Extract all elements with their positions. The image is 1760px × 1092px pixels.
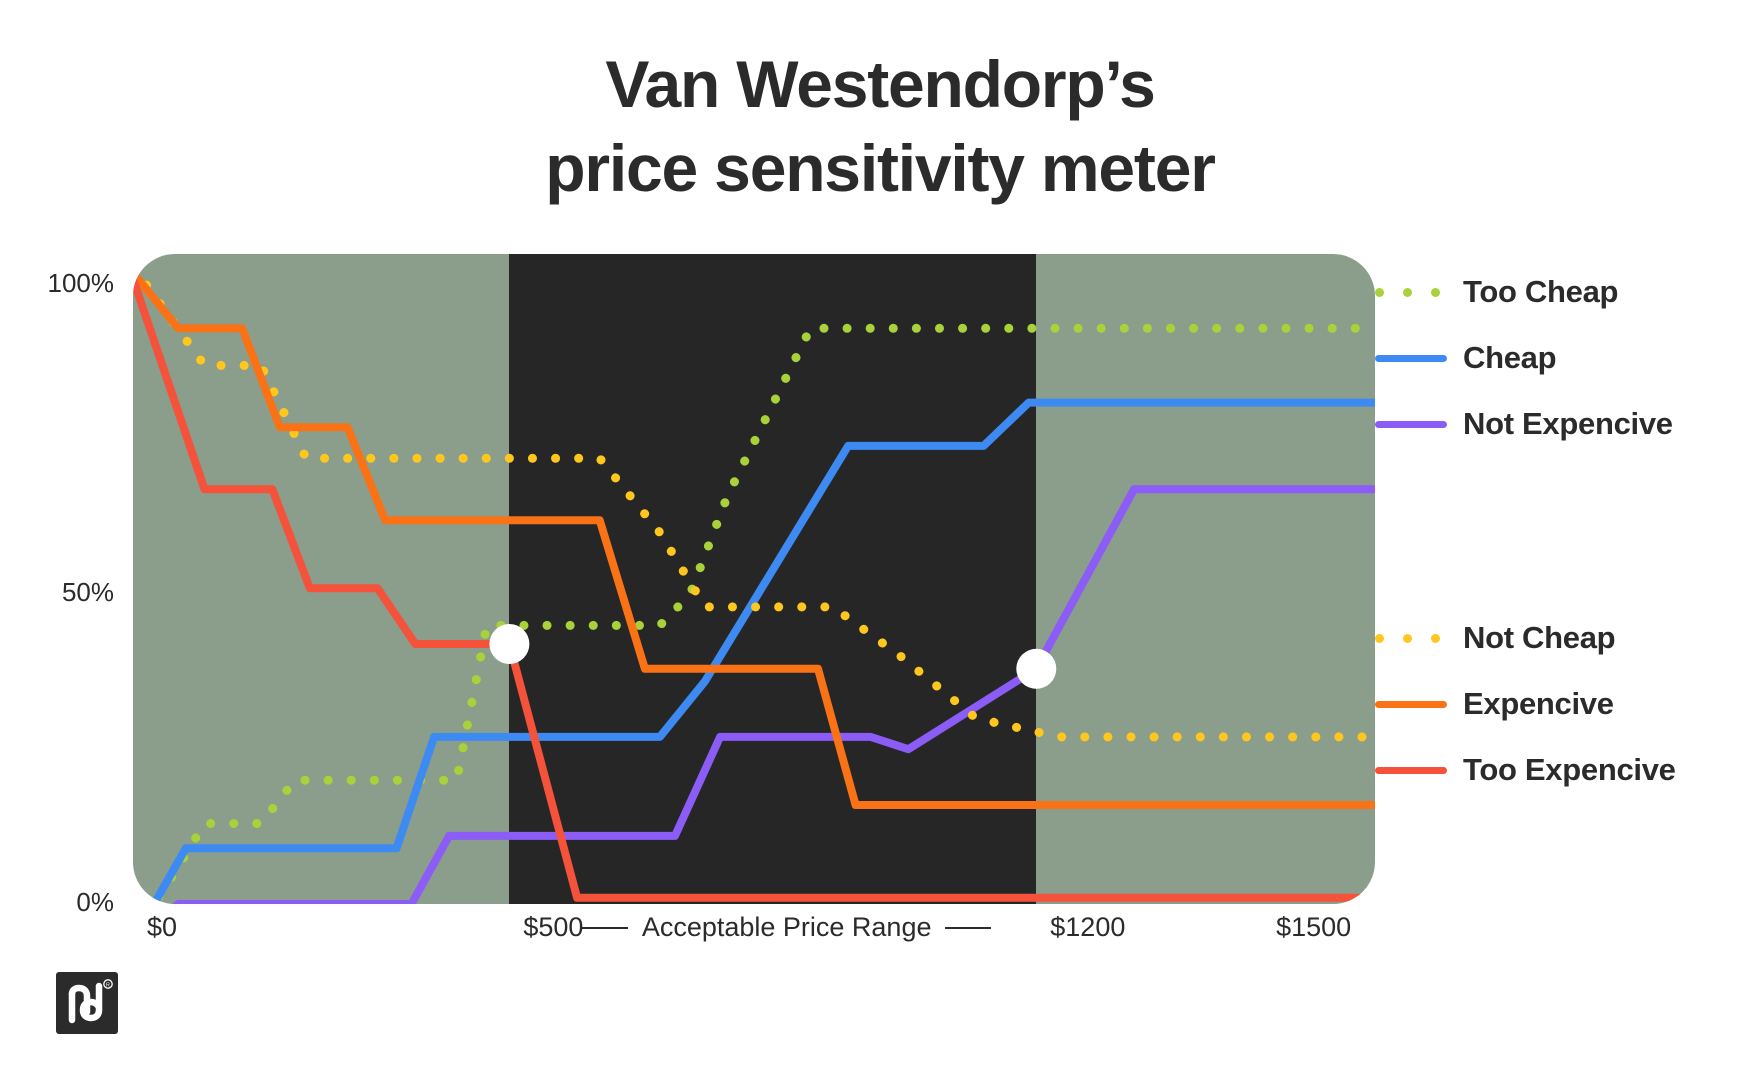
legend-label: Cheap xyxy=(1463,340,1556,376)
legend-label: Not Cheap xyxy=(1463,620,1615,656)
legend-label: Expencive xyxy=(1463,686,1614,722)
legend-swatch-icon xyxy=(1375,355,1447,362)
legend-label: Too Cheap xyxy=(1463,274,1618,310)
series-line-too-cheap xyxy=(133,328,1375,935)
acceptable-price-range-caption: Acceptable Price Range xyxy=(582,912,992,943)
chart-lines xyxy=(133,254,1375,904)
legend-label: Not Expencive xyxy=(1463,406,1673,442)
legend-swatch-icon xyxy=(1375,767,1447,774)
legend-swatch-icon xyxy=(1375,701,1447,708)
legend-swatch-icon xyxy=(1375,421,1447,428)
x-axis-tick: $0 xyxy=(147,912,177,943)
legend-item-expencive[interactable]: Expencive xyxy=(1375,684,1614,724)
legend: Too CheapCheapNot ExpenciveNot CheapExpe… xyxy=(1375,254,1760,904)
legend-item-not-cheap[interactable]: Not Cheap xyxy=(1375,618,1615,658)
y-axis-tick: 0% xyxy=(24,887,114,918)
svg-text:R: R xyxy=(106,983,110,989)
legend-swatch-icon xyxy=(1375,634,1447,643)
point-of-marginal-expensiveness[interactable] xyxy=(1016,649,1056,689)
caption-rule-left xyxy=(582,927,628,929)
chart-page: Van Westendorp’s price sensitivity meter… xyxy=(0,0,1760,1092)
series-line-not-expencive xyxy=(133,489,1375,941)
caption-text: Acceptable Price Range xyxy=(642,912,932,943)
y-axis-tick: 100% xyxy=(24,268,114,299)
legend-item-too-cheap[interactable]: Too Cheap xyxy=(1375,272,1618,312)
legend-item-too-expencive[interactable]: Too Expencive xyxy=(1375,750,1676,790)
x-axis-tick: $1500 xyxy=(1276,912,1351,943)
page-title: Van Westendorp’s price sensitivity meter xyxy=(0,42,1760,210)
x-axis-tick: $500 xyxy=(523,912,583,943)
x-axis-tick: $1200 xyxy=(1050,912,1125,943)
point-of-marginal-cheapness[interactable] xyxy=(489,624,529,664)
y-axis-tick: 50% xyxy=(24,577,114,608)
caption-rule-right xyxy=(945,927,991,929)
series-line-expencive xyxy=(133,273,1375,805)
legend-label: Too Expencive xyxy=(1463,752,1676,788)
legend-swatch-icon xyxy=(1375,288,1447,297)
pd-mark-icon: R xyxy=(56,972,118,1034)
pandadoc-logo[interactable]: R xyxy=(56,972,118,1034)
legend-item-cheap[interactable]: Cheap xyxy=(1375,338,1556,378)
plot-area xyxy=(133,254,1375,904)
legend-item-not-expencive[interactable]: Not Expencive xyxy=(1375,404,1673,444)
